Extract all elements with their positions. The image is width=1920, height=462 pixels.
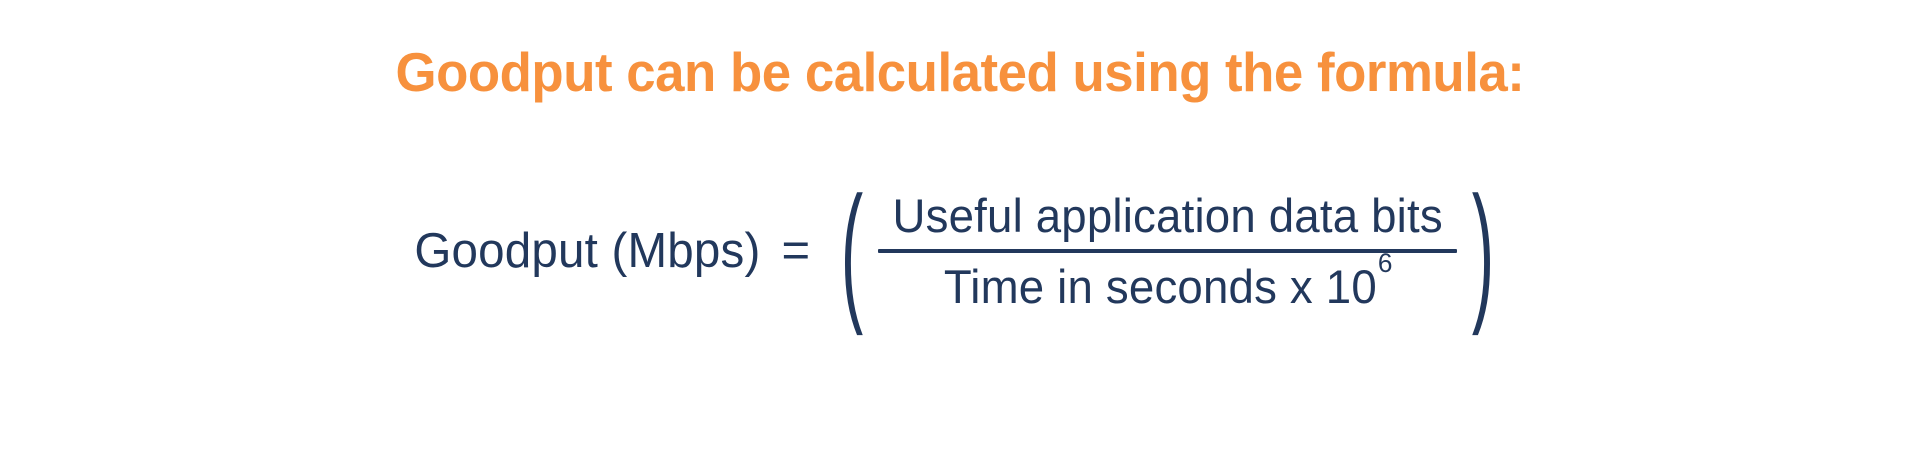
fraction-numerator: Useful application data bits bbox=[887, 190, 1449, 249]
title-container: Goodput can be calculated using the form… bbox=[0, 44, 1920, 102]
denominator-base: Time in seconds x 10 bbox=[944, 260, 1377, 313]
formula-container: Goodput (Mbps) = ( Useful application da… bbox=[0, 190, 1920, 313]
equals-sign: = bbox=[781, 227, 810, 276]
denominator-exponent: 6 bbox=[1378, 248, 1393, 278]
formula-left-hand-side: Goodput (Mbps) bbox=[414, 227, 760, 276]
page-title: Goodput can be calculated using the form… bbox=[396, 44, 1525, 102]
goodput-formula: Goodput (Mbps) = ( Useful application da… bbox=[409, 190, 1512, 313]
slide-canvas: Goodput can be calculated using the form… bbox=[0, 0, 1920, 462]
close-parenthesis: ) bbox=[1472, 189, 1494, 315]
fraction-denominator: Time in seconds x 106 bbox=[938, 253, 1397, 314]
fraction: Useful application data bits Time in sec… bbox=[878, 190, 1457, 313]
open-parenthesis: ( bbox=[841, 189, 863, 315]
